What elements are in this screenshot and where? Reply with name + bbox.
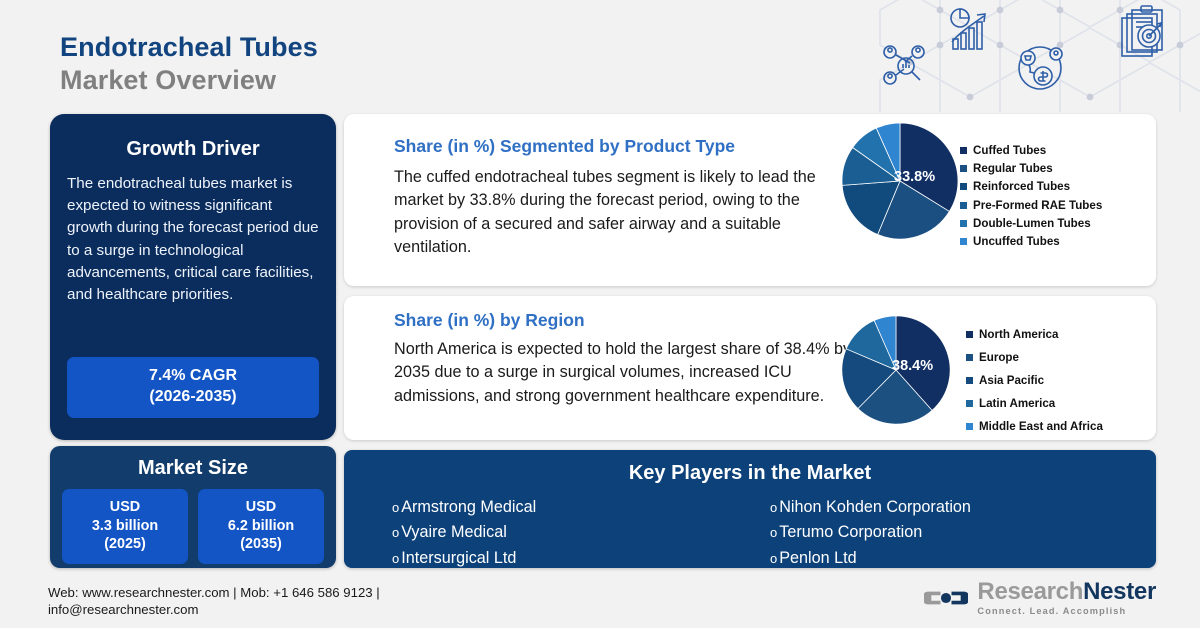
footer-contact: Web: www.researchnester.com | Mob: +1 64… [48,584,518,619]
key-players-title: Key Players in the Market [344,450,1156,485]
key-player-name: Intersurgical Ltd [401,546,516,571]
key-player-name: Terumo Corporation [779,520,922,545]
key-player-item: oPenlon Ltd [770,546,1148,571]
region-pie-chart: 38.4% [840,314,952,431]
legend-item: Europe [966,351,1103,364]
cagr-badge: 7.4% CAGR (2026-2035) [67,357,319,418]
legend-label: Uncuffed Tubes [973,235,1060,248]
cagr-value: 7.4% CAGR [67,366,319,386]
legend-swatch [960,220,967,227]
amount-label: 3.3 billion [62,517,188,536]
market-size-title: Market Size [50,446,336,480]
footer-line-2: info@researchnester.com [48,601,518,618]
region-pie-label: 38.4% [892,358,933,374]
legend-swatch [966,377,973,384]
list-bullet-icon: o [770,523,777,543]
product-type-card: Share (in %) Segmented by Product Type T… [344,114,1156,286]
legend-item: Regular Tubes [960,162,1102,175]
legend-label: Pre-Formed RAE Tubes [973,199,1102,212]
legend-item: Cuffed Tubes [960,144,1102,157]
market-size-boxes: USD 3.3 billion (2025) USD 6.2 billion (… [50,480,336,564]
legend-swatch [960,183,967,190]
key-player-name: Vyaire Medical [401,520,507,545]
legend-item: Latin America [966,397,1103,410]
key-player-item: oIntersurgical Ltd [392,546,770,571]
key-player-item: oVyaire Medical [392,520,770,545]
legend-swatch [966,400,973,407]
region-heading: Share (in %) by Region [394,310,585,331]
market-size-box-2025: USD 3.3 billion (2025) [62,489,188,564]
legend-label: Double-Lumen Tubes [973,217,1091,230]
market-size-box-2035: USD 6.2 billion (2035) [198,489,324,564]
infographic-page: Endotracheal Tubes Market Overview Growt… [0,0,1200,628]
year-label: (2035) [198,535,324,554]
region-body: North America is expected to hold the la… [394,338,859,408]
legend-item: Uncuffed Tubes [960,235,1102,248]
year-label: (2025) [62,535,188,554]
growth-driver-body: The endotracheal tubes market is expecte… [50,161,336,306]
legend-item: Pre-Formed RAE Tubes [960,199,1102,212]
logo-tagline: Connect. Lead. Accomplish [977,607,1156,616]
currency-label: USD [198,498,324,517]
legend-label: Cuffed Tubes [973,144,1046,157]
footer-line-1: Web: www.researchnester.com | Mob: +1 64… [48,584,518,601]
cagr-period: (2026-2035) [67,387,319,407]
legend-swatch [960,202,967,209]
legend-label: North America [979,328,1058,341]
legend-label: Latin America [979,397,1055,410]
legend-item: Middle East and Africa [966,420,1103,433]
legend-item: North America [966,328,1103,341]
legend-label: Reinforced Tubes [973,180,1070,193]
legend-label: Regular Tubes [973,162,1053,175]
growth-driver-title: Growth Driver [50,138,336,161]
growth-driver-panel: Growth Driver The endotracheal tubes mar… [50,114,336,440]
legend-swatch [960,238,967,245]
logo-word-research: Research [977,578,1083,605]
product-type-pie-label: 33.8% [894,169,935,185]
key-player-item: oNihon Kohden Corporation [770,495,1148,520]
legend-item: Asia Pacific [966,374,1103,387]
page-title-secondary: Market Overview [60,65,318,96]
clipboard-target-icon [1122,6,1162,56]
legend-item: Double-Lumen Tubes [960,217,1102,230]
list-bullet-icon: o [770,498,777,518]
page-title-primary: Endotracheal Tubes [60,32,318,63]
legend-swatch [966,423,973,430]
key-player-name: Nihon Kohden Corporation [779,495,971,520]
legend-swatch [960,147,967,154]
product-type-body: The cuffed endotracheal tubes segment is… [394,166,849,260]
legend-swatch [966,354,973,361]
logo-word-nester: Nester [1083,578,1156,605]
legend-label: Europe [979,351,1019,364]
legend-item: Reinforced Tubes [960,180,1102,193]
list-bullet-icon: o [392,523,399,543]
key-players-panel: Key Players in the Market oArmstrong Med… [344,450,1156,568]
market-size-panel: Market Size USD 3.3 billion (2025) USD 6… [50,446,336,568]
key-player-item: oArmstrong Medical [392,495,770,520]
product-type-pie-chart: 33.8% [840,121,960,246]
list-bullet-icon: o [392,498,399,518]
legend-label: Asia Pacific [979,374,1044,387]
list-bullet-icon: o [770,549,777,569]
key-players-column-right: oNihon Kohden CorporationoTerumo Corpora… [770,495,1148,571]
key-player-name: Penlon Ltd [779,546,856,571]
legend-swatch [966,331,973,338]
product-type-heading: Share (in %) Segmented by Product Type [394,136,735,157]
region-card: Share (in %) by Region North America is … [344,296,1156,440]
key-players-column-left: oArmstrong MedicaloVyaire MedicaloInters… [392,495,770,571]
amount-label: 6.2 billion [198,517,324,536]
key-players-columns: oArmstrong MedicaloVyaire MedicaloInters… [344,485,1156,571]
key-player-name: Armstrong Medical [401,495,536,520]
logo-mark-icon [924,583,968,613]
legend-label: Middle East and Africa [979,420,1103,433]
key-player-item: oTerumo Corporation [770,520,1148,545]
user-network-analytics-icon [884,46,924,84]
hexagon-decoration-band [860,0,1200,112]
legend-swatch [960,165,967,172]
currency-label: USD [62,498,188,517]
product-type-legend: Cuffed TubesRegular TubesReinforced Tube… [960,144,1102,253]
page-header: Endotracheal Tubes Market Overview [60,32,318,96]
region-legend: North AmericaEuropeAsia PacificLatin Ame… [966,328,1103,443]
globe-dollar-icon [1019,47,1062,89]
research-nester-logo: ResearchNester Connect. Lead. Accomplish [924,580,1156,616]
list-bullet-icon: o [392,549,399,569]
